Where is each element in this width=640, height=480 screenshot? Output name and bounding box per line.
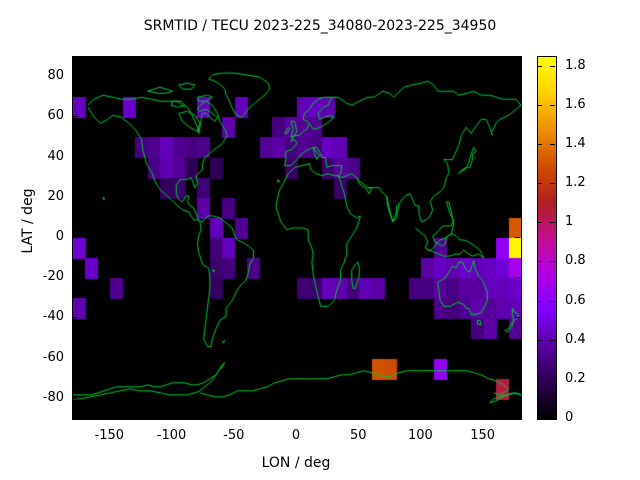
x-tick-mark bbox=[483, 413, 484, 418]
y-axis-title: LAT / deg bbox=[20, 151, 36, 291]
y-tick-mark-right bbox=[515, 76, 520, 77]
x-tick-label: 0 bbox=[261, 428, 331, 443]
y-tick-mark bbox=[72, 277, 77, 278]
y-tick-mark-right bbox=[515, 277, 520, 278]
colorbar-tick-mark bbox=[537, 144, 542, 145]
colorbar-tick-label: 0 bbox=[565, 410, 573, 425]
y-tick-label: 0 bbox=[8, 229, 64, 244]
x-tick-label: -150 bbox=[74, 428, 144, 443]
colorbar-tick-mark-right bbox=[550, 418, 555, 419]
colorbar-tick-label: 0.8 bbox=[565, 253, 586, 268]
y-tick-mark bbox=[72, 398, 77, 399]
heatmap-canvas bbox=[73, 57, 521, 419]
x-axis-title: LON / deg bbox=[72, 455, 520, 471]
colorbar-tick-label: 1.4 bbox=[565, 136, 586, 151]
y-tick-mark-right bbox=[515, 116, 520, 117]
y-tick-mark-right bbox=[515, 237, 520, 238]
y-tick-label: 40 bbox=[8, 149, 64, 164]
colorbar-tick-label: 0.4 bbox=[565, 332, 586, 347]
x-tick-mark-top bbox=[358, 56, 359, 61]
y-tick-label: -80 bbox=[8, 390, 64, 405]
colorbar-tick-mark-right bbox=[550, 105, 555, 106]
y-tick-label: 60 bbox=[8, 108, 64, 123]
x-tick-label: 150 bbox=[448, 428, 518, 443]
colorbar bbox=[537, 56, 557, 420]
map-plot-area bbox=[72, 56, 522, 420]
y-tick-mark bbox=[72, 197, 77, 198]
x-tick-mark bbox=[234, 413, 235, 418]
colorbar-tick-mark bbox=[537, 261, 542, 262]
x-tick-mark-top bbox=[483, 56, 484, 61]
x-tick-mark bbox=[109, 413, 110, 418]
y-tick-mark bbox=[72, 76, 77, 77]
x-tick-label: 50 bbox=[323, 428, 393, 443]
colorbar-tick-mark-right bbox=[550, 340, 555, 341]
y-tick-mark bbox=[72, 157, 77, 158]
x-tick-mark bbox=[358, 413, 359, 418]
y-tick-mark-right bbox=[515, 197, 520, 198]
x-tick-label: -50 bbox=[199, 428, 269, 443]
colorbar-tick-mark-right bbox=[550, 301, 555, 302]
colorbar-tick-mark bbox=[537, 340, 542, 341]
x-tick-mark bbox=[420, 413, 421, 418]
page-title: SRMTID / TECU 2023-225_34080-2023-225_34… bbox=[0, 18, 640, 34]
colorbar-tick-mark-right bbox=[550, 261, 555, 262]
y-tick-mark-right bbox=[515, 358, 520, 359]
colorbar-tick-mark bbox=[537, 418, 542, 419]
y-tick-mark bbox=[72, 116, 77, 117]
colorbar-tick-label: 1.8 bbox=[565, 58, 586, 73]
y-tick-mark bbox=[72, 317, 77, 318]
colorbar-tick-mark-right bbox=[550, 379, 555, 380]
y-tick-mark bbox=[72, 237, 77, 238]
x-tick-mark-top bbox=[420, 56, 421, 61]
colorbar-tick-mark-right bbox=[550, 66, 555, 67]
colorbar-tick-label: 1 bbox=[565, 214, 573, 229]
colorbar-tick-mark bbox=[537, 66, 542, 67]
x-tick-mark-top bbox=[234, 56, 235, 61]
y-tick-label: 80 bbox=[8, 68, 64, 83]
colorbar-tick-mark bbox=[537, 379, 542, 380]
x-tick-mark-top bbox=[109, 56, 110, 61]
x-tick-mark-top bbox=[296, 56, 297, 61]
colorbar-tick-mark-right bbox=[550, 144, 555, 145]
y-tick-mark bbox=[72, 358, 77, 359]
y-tick-label: -20 bbox=[8, 269, 64, 284]
colorbar-tick-mark-right bbox=[550, 183, 555, 184]
x-tick-label: -100 bbox=[137, 428, 207, 443]
y-tick-label: -40 bbox=[8, 309, 64, 324]
colorbar-tick-label: 1.2 bbox=[565, 175, 586, 190]
y-tick-mark-right bbox=[515, 398, 520, 399]
y-tick-mark-right bbox=[515, 157, 520, 158]
x-tick-mark bbox=[172, 413, 173, 418]
colorbar-tick-mark-right bbox=[550, 222, 555, 223]
colorbar-tick-mark bbox=[537, 183, 542, 184]
colorbar-tick-mark bbox=[537, 105, 542, 106]
y-tick-label: -60 bbox=[8, 350, 64, 365]
colorbar-tick-label: 0.2 bbox=[565, 371, 586, 386]
x-tick-mark bbox=[296, 413, 297, 418]
x-tick-mark-top bbox=[172, 56, 173, 61]
colorbar-gradient bbox=[538, 57, 556, 419]
colorbar-tick-mark bbox=[537, 222, 542, 223]
colorbar-tick-mark bbox=[537, 301, 542, 302]
colorbar-tick-label: 1.6 bbox=[565, 97, 586, 112]
colorbar-tick-label: 0.6 bbox=[565, 293, 586, 308]
y-tick-mark-right bbox=[515, 317, 520, 318]
y-tick-label: 20 bbox=[8, 189, 64, 204]
x-tick-label: 100 bbox=[385, 428, 455, 443]
